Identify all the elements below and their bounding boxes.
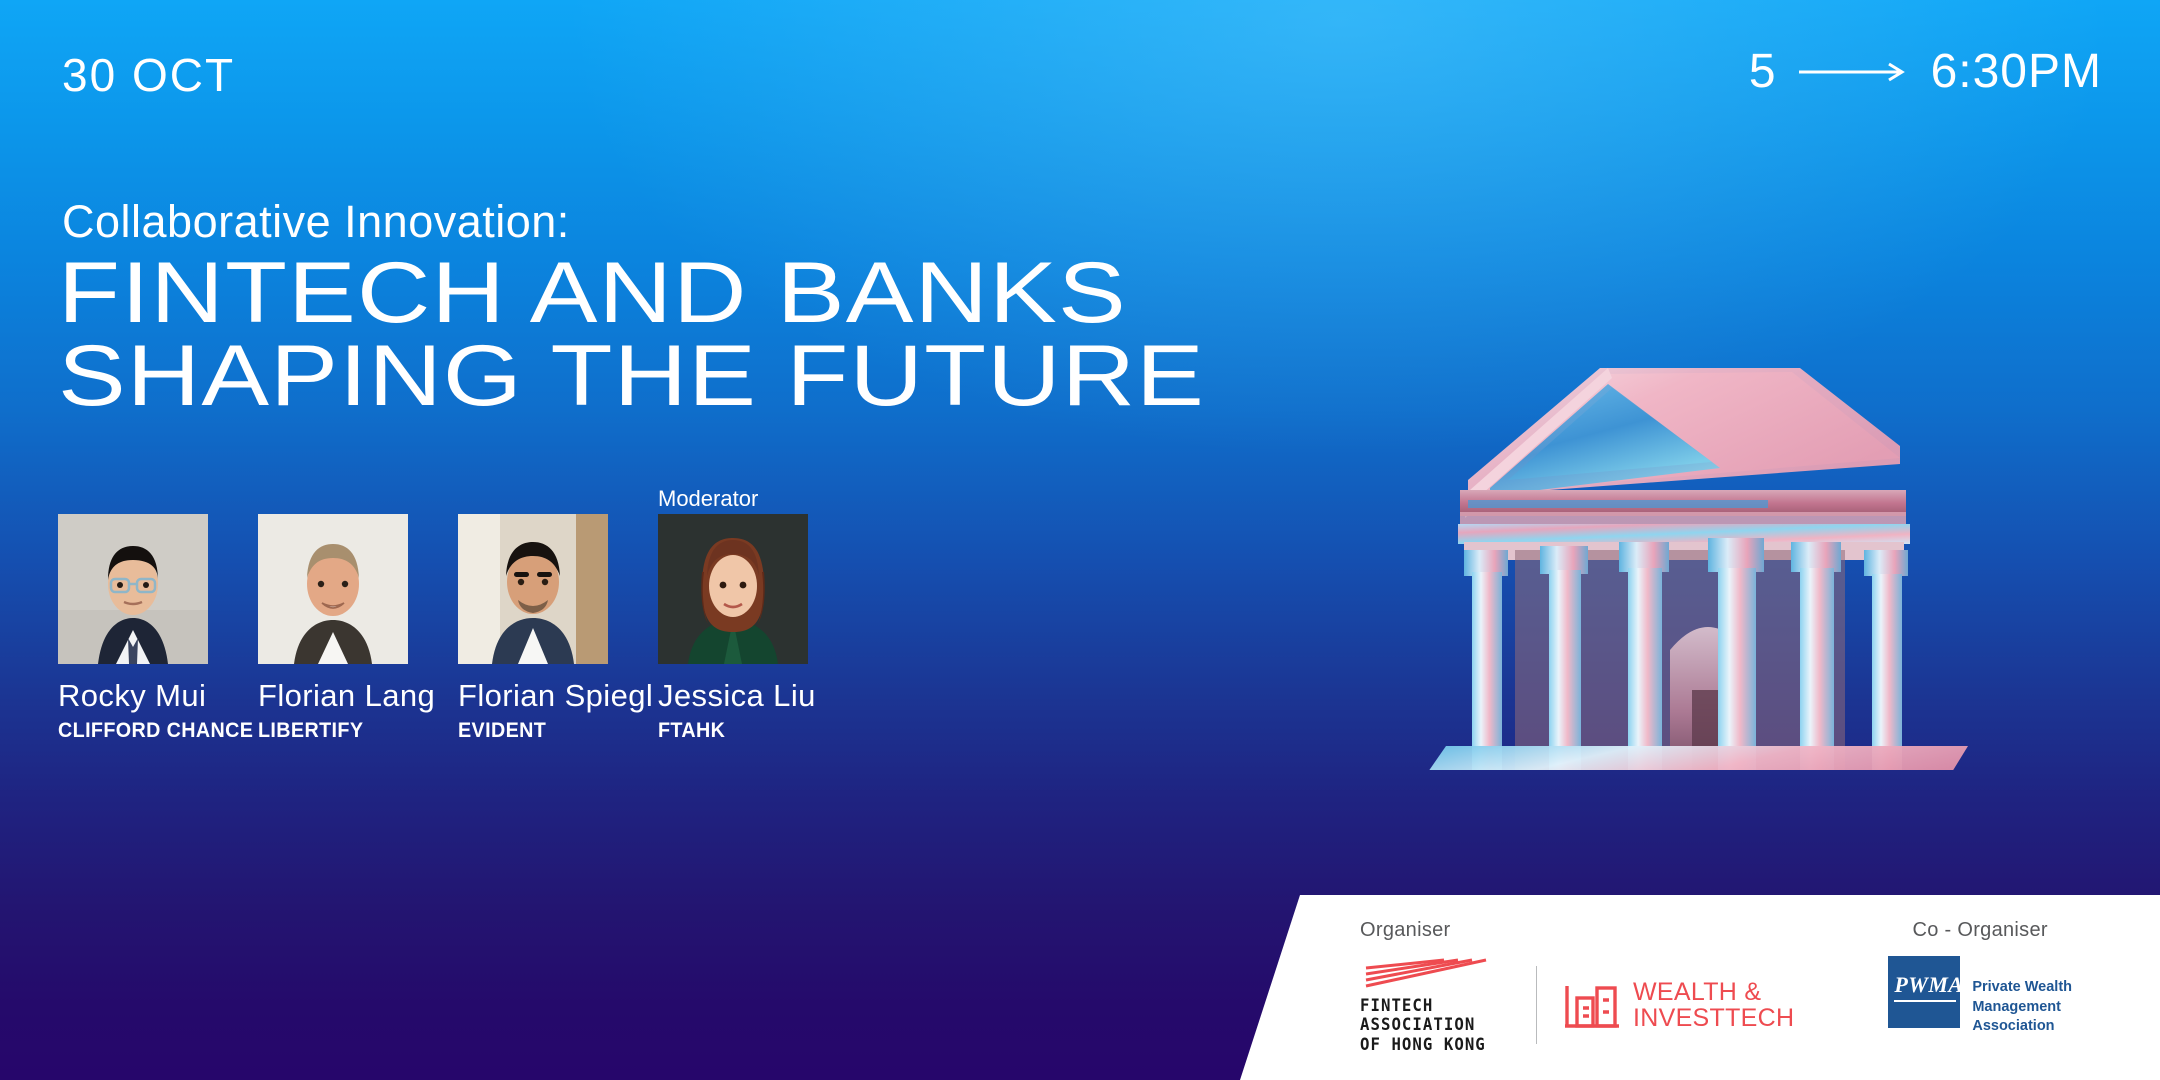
speaker-org: CLIFFORD CHANCE	[58, 719, 246, 743]
speaker-org: FTAHK	[658, 719, 846, 743]
speaker-name: Rocky Mui	[58, 678, 258, 714]
logo-divider	[1536, 966, 1537, 1044]
pwma-mark: PWMA	[1888, 956, 1960, 1028]
organiser-label: Organiser	[1360, 919, 1794, 942]
wi-line-1: WEALTH &	[1633, 979, 1794, 1006]
page-title: FINTECH AND BANKS SHAPING THE FUTURE	[58, 252, 1205, 417]
headline-line-1: FINTECH AND BANKS	[58, 252, 1205, 335]
speaker-photo	[458, 514, 608, 664]
fahk-line-2: OF HONG KONG	[1360, 1035, 1503, 1054]
co-organiser-group: Co - Organiser PWMA Private Wealth Manag…	[1840, 919, 2120, 1037]
speaker-org: EVIDENT	[458, 719, 646, 743]
co-organiser-label: Co - Organiser	[1913, 919, 2048, 942]
footer-white-sheet	[1240, 895, 2160, 1080]
pwma-line-3: Association	[1972, 1017, 2072, 1037]
speaker-card: Florian Spiegl EVIDENT	[458, 514, 658, 743]
moderator-label: Moderator	[658, 486, 758, 512]
event-banner: 30 OCT 5 6:30PM Collaborative Innovation…	[0, 0, 2160, 1080]
portrait-jessica-liu	[658, 514, 808, 664]
arrow-right-icon	[1799, 61, 1909, 83]
event-time: 5 6:30PM	[1749, 44, 2102, 99]
pwma-logo: PWMA Private Wealth Management Associati…	[1888, 956, 2072, 1037]
speaker-name: Jessica Liu	[658, 678, 858, 714]
wealth-and-investtech-logo: WEALTH & INVESTTECH	[1563, 978, 1794, 1032]
pwma-line-1: Private Wealth	[1972, 978, 2072, 998]
speaker-list: Rocky Mui CLIFFORD CHANCE Florian Lang L…	[58, 514, 858, 743]
speaker-card: Rocky Mui CLIFFORD CHANCE	[58, 514, 258, 743]
event-kicker: Collaborative Innovation:	[62, 196, 570, 248]
speaker-org: LIBERTIFY	[258, 719, 446, 743]
headline-line-2: SHAPING THE FUTURE	[58, 335, 1205, 418]
fahk-line-1: FINTECH ASSOCIATION	[1360, 996, 1503, 1035]
red-building-bars-icon	[1563, 978, 1621, 1032]
speaker-card-moderator: Moderator Jessica Liu FTAHK	[658, 514, 858, 743]
speaker-name: Florian Lang	[258, 678, 458, 714]
speaker-photo	[658, 514, 808, 664]
speaker-photo	[258, 514, 408, 664]
fintech-association-of-hong-kong-logo: FINTECH ASSOCIATION OF HONG KONG	[1360, 956, 1510, 1054]
speaker-photo	[58, 514, 208, 664]
event-time-end: 6:30PM	[1931, 44, 2102, 99]
speaker-name: Florian Spiegl	[458, 678, 658, 714]
organiser-group: Organiser FINTECH ASSOCIATION OF HONG KO…	[1360, 919, 1794, 1054]
portrait-rocky-mui	[58, 514, 208, 664]
pwma-line-2: Management	[1972, 998, 2072, 1018]
bank-building-3d-illustration	[1340, 250, 2040, 770]
speaker-card: Florian Lang LIBERTIFY	[258, 514, 458, 743]
wi-line-2: INVESTTECH	[1633, 1005, 1794, 1032]
portrait-florian-lang	[258, 514, 408, 664]
event-time-start: 5	[1749, 44, 1777, 99]
pwma-mark-text: PWMA	[1894, 972, 1956, 1002]
event-date: 30 OCT	[62, 48, 235, 102]
portrait-florian-spiegl	[458, 514, 608, 664]
red-diagonal-lines-icon	[1360, 956, 1510, 990]
